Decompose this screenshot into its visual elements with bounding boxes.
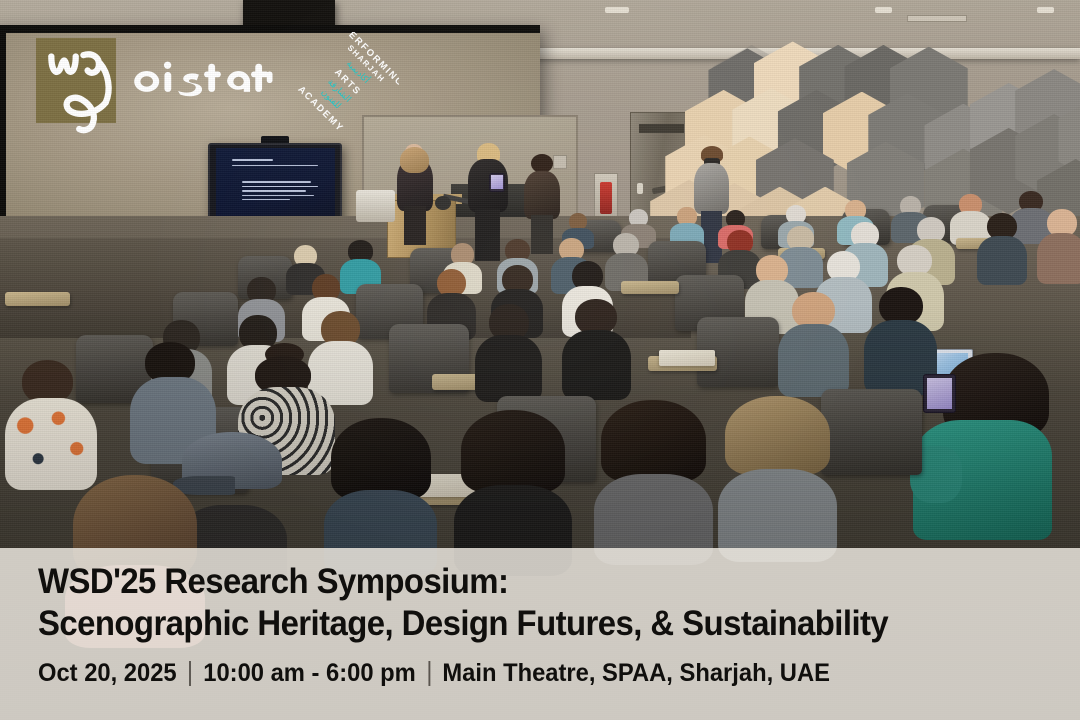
presenter-body — [524, 171, 560, 220]
event-meta-line: Oct 20, 2025 10:00 am - 6:00 pm Main The… — [38, 658, 830, 688]
attendee-body — [694, 163, 729, 214]
event-date: Oct 20, 2025 — [38, 658, 177, 688]
presenter-tablet — [489, 173, 505, 191]
spaa-logo: PERFORMING SHARJAH ARTS ACADEMY أكاديمية… — [295, 32, 399, 134]
notebook — [659, 350, 715, 366]
hair — [331, 418, 431, 500]
tablet-arm-desk — [621, 281, 679, 294]
presenter-hair — [400, 147, 430, 173]
audience-member — [475, 304, 542, 402]
event-poster: PERFORMING SHARJAH ARTS ACADEMY أكاديمية… — [0, 0, 1080, 720]
hair — [601, 400, 706, 483]
title-overlay-band: WSD'25 Research Symposium: Scenographic … — [0, 548, 1080, 720]
door-handle — [637, 183, 642, 195]
torso — [475, 335, 542, 402]
audience-member-floral-shirt — [5, 360, 97, 490]
audience-member — [718, 396, 837, 562]
presentation-monitor — [208, 143, 342, 227]
meta-separator-2 — [428, 661, 430, 686]
torso — [778, 324, 849, 397]
presenter-1 — [395, 144, 434, 245]
event-time: 10:00 am - 6:00 pm — [203, 658, 416, 688]
torso — [562, 330, 631, 400]
event-title-line-1: WSD'25 Research Symposium: — [38, 562, 508, 602]
audience-member — [778, 292, 849, 397]
fire-extinguisher-cabinet — [594, 173, 618, 221]
monitor-slide — [216, 148, 336, 221]
audience-phone — [923, 374, 955, 413]
presenter-legs — [404, 206, 426, 244]
event-venue: Main Theatre, SPAA, Sharjah, UAE — [442, 658, 830, 688]
presenter-hair — [531, 154, 553, 172]
audience-member — [977, 213, 1027, 285]
torso — [977, 236, 1027, 285]
document-visualizer — [356, 190, 395, 222]
audience-member — [594, 400, 713, 566]
hair — [725, 396, 830, 475]
wsd-logo-square — [36, 38, 116, 123]
event-title-line-2: Scenographic Heritage, Design Futures, &… — [38, 604, 888, 644]
meta-separator-1 — [189, 661, 191, 686]
oistat-logo — [130, 52, 287, 107]
audience-member — [1037, 209, 1080, 284]
ceiling-light-1 — [605, 7, 629, 13]
tablet-arm-desk — [5, 292, 70, 306]
audience-member — [562, 299, 631, 400]
torso — [1037, 233, 1080, 284]
hair — [461, 410, 566, 493]
